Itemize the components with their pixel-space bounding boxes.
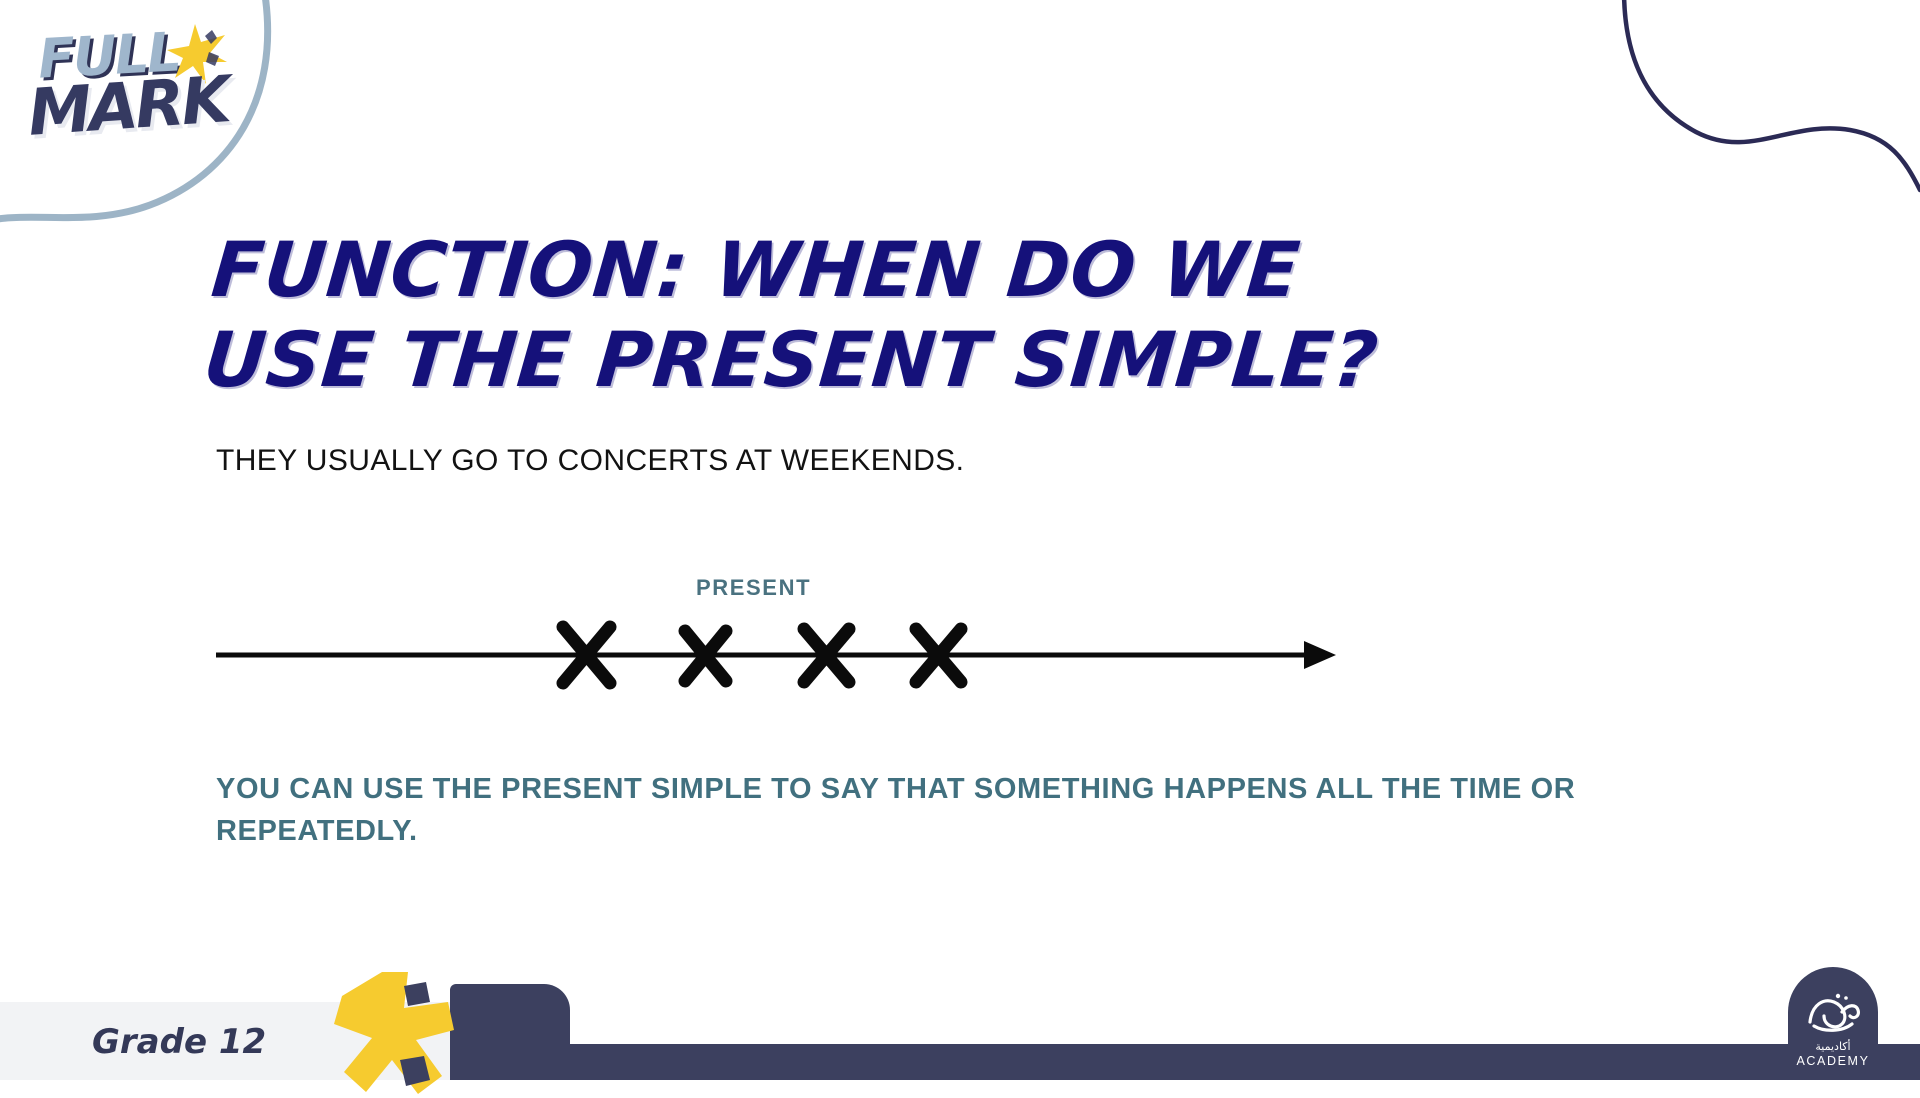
academy-arabic-label: أكاديمية — [1815, 1039, 1850, 1053]
academy-arch-logo-icon: أكاديمية ACADEMY — [1780, 960, 1886, 1072]
brand-logo-mark-text: MARK — [26, 63, 231, 151]
grade-label: Grade 12 — [92, 1022, 266, 1062]
footer-navy-bar — [450, 1044, 1920, 1080]
main-content: FUNCTION: WHEN DO WE USE THE PRESENT SIM… — [216, 225, 1716, 478]
brand-logo-full-text: FULL — [36, 20, 181, 90]
wave-line-icon — [1600, 0, 1920, 210]
star-burst-icon — [330, 968, 460, 1098]
footer-navy-riser — [450, 984, 570, 1080]
academy-name-label: ACADEMY — [1796, 1054, 1869, 1068]
timeline-diagram: PRESENT — [216, 575, 1336, 705]
brand-logo: FULL MARK — [18, 8, 258, 168]
star-burst-icon — [165, 22, 229, 86]
slide-canvas: FULL MARK FUNCTION: WHEN DO WE USE THE P… — [0, 0, 1920, 1080]
arrow-right-icon — [1304, 641, 1336, 669]
timeline-graphic — [216, 607, 1336, 705]
example-sentence: THEY USUALLY GO TO CONCERTS AT WEEKENDS. — [216, 444, 1716, 478]
page-title: FUNCTION: WHEN DO WE USE THE PRESENT SIM… — [200, 225, 1446, 404]
explanation-text: YOU CAN USE THE PRESENT SIMPLE TO SAY TH… — [216, 768, 1646, 852]
timeline-present-label: PRESENT — [696, 575, 811, 601]
